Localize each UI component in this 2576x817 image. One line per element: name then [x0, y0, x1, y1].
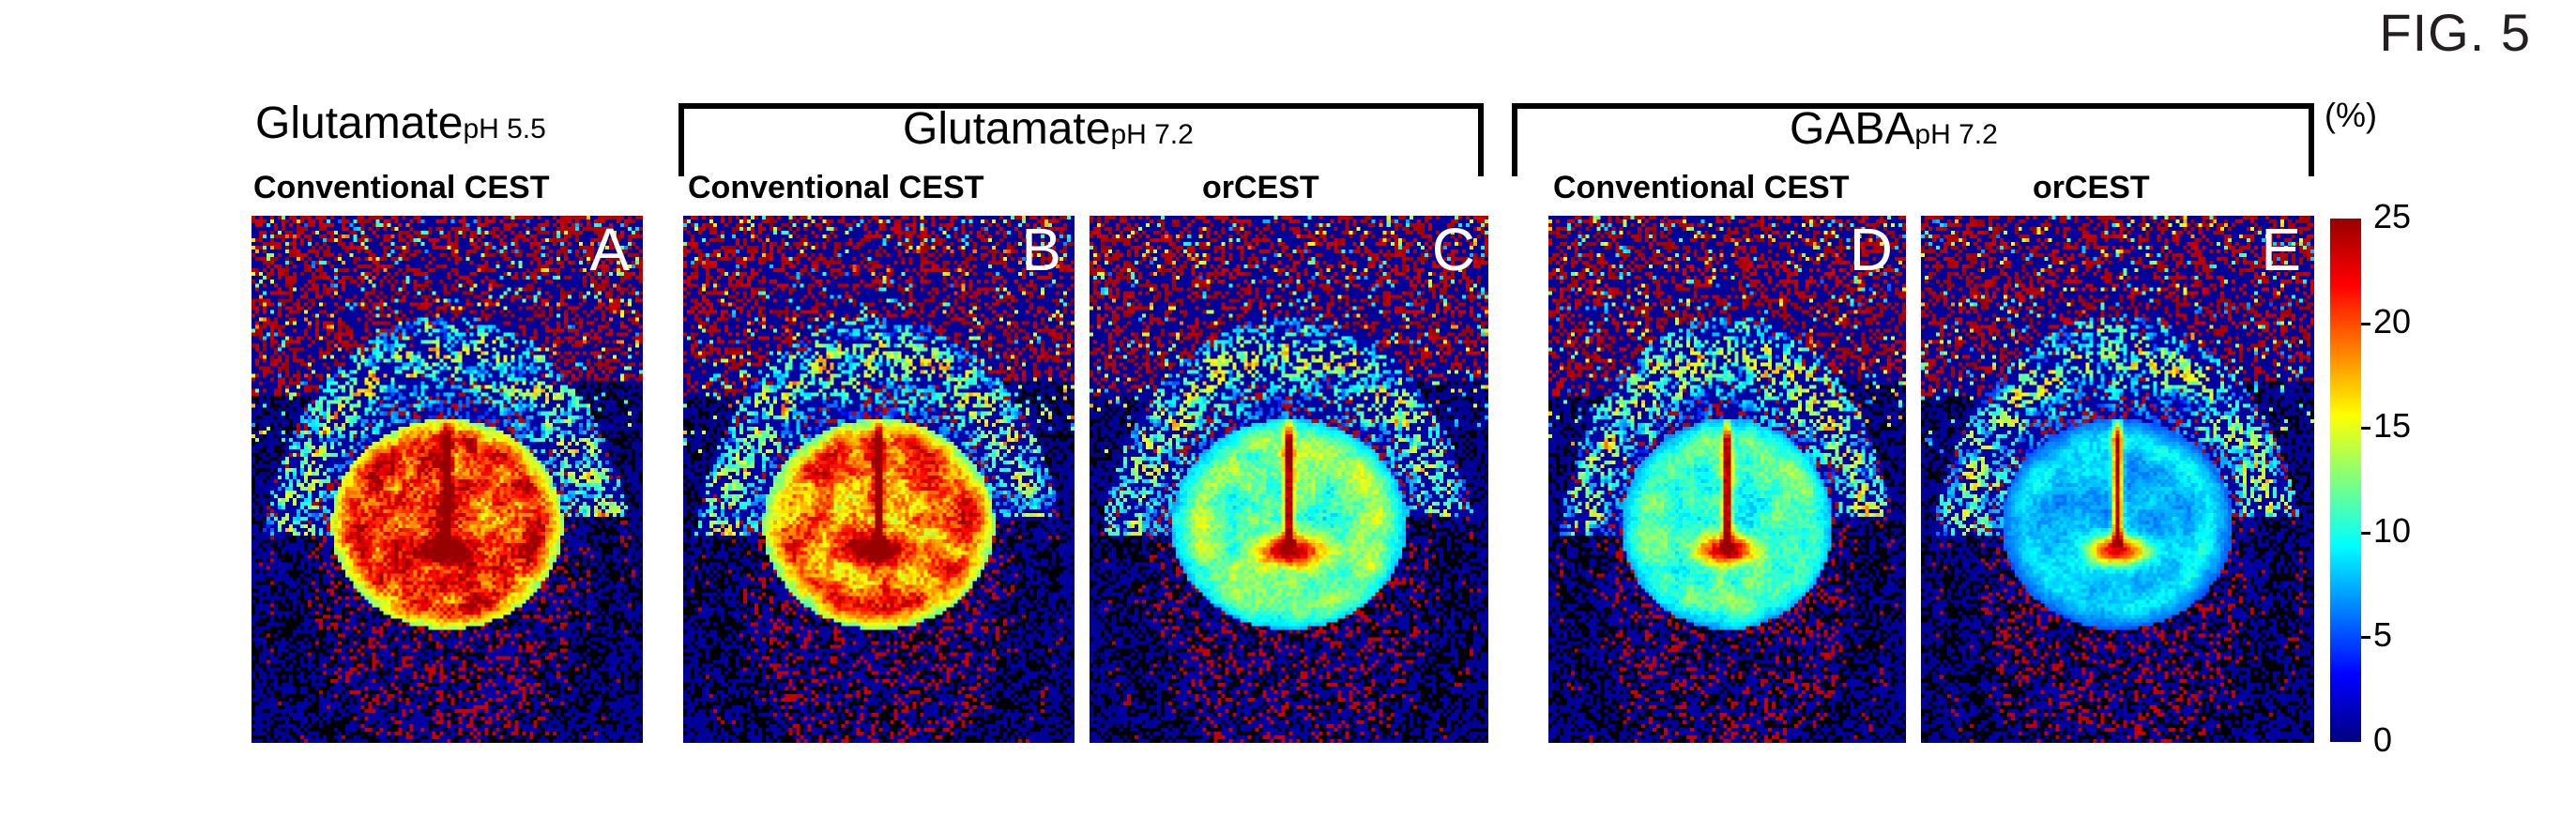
cest-map-panel-b[interactable]: B: [683, 216, 1075, 743]
group-title-glutamate-ph55: GlutamatepH 5.5: [255, 101, 546, 146]
colorbar-tick-label-25: 25: [2373, 200, 2411, 234]
group-title-ph: pH 7.2: [1110, 119, 1193, 150]
panel-subtitle-b: Conventional CEST: [688, 172, 983, 204]
group-title-gaba-ph72: GABApH 7.2: [1790, 107, 1998, 152]
colorbar-tick-label-10: 10: [2373, 514, 2411, 548]
colorbar-gradient: [2330, 219, 2361, 742]
colorbar: [2330, 219, 2361, 742]
group-title-ph: pH 7.2: [1914, 119, 1997, 150]
cest-map-panel-d[interactable]: D: [1548, 216, 1906, 743]
cest-map-panel-e[interactable]: E: [1921, 216, 2314, 743]
colorbar-tick-label-0: 0: [2373, 723, 2392, 757]
group-title-text: Glutamate: [255, 98, 463, 148]
group-title-text: Glutamate: [903, 104, 1110, 154]
colorbar-tick-label-15: 15: [2373, 409, 2411, 443]
colorbar-tick-label-5: 5: [2373, 618, 2392, 652]
group-title-ph: pH 5.5: [463, 113, 545, 144]
panel-subtitle-d: Conventional CEST: [1553, 172, 1849, 204]
colorbar-unit-label: (%): [2324, 98, 2377, 132]
group-title-text: GABA: [1790, 104, 1914, 154]
panel-subtitle-c: orCEST: [1202, 172, 1319, 204]
colorbar-tick-mark: [2361, 427, 2370, 430]
colorbar-tick-mark: [2361, 323, 2370, 325]
cest-map-panel-c[interactable]: C: [1090, 216, 1488, 743]
colorbar-tick-label-20: 20: [2373, 305, 2411, 339]
colorbar-tick-mark: [2361, 532, 2370, 535]
panel-subtitle-a: Conventional CEST: [253, 172, 549, 204]
figure-label: FIG. 5: [2379, 2, 2531, 63]
cest-map-panel-a[interactable]: A: [252, 216, 643, 743]
group-title-glutamate-ph72: GlutamatepH 7.2: [903, 107, 1194, 152]
panel-subtitle-e: orCEST: [2033, 172, 2150, 204]
colorbar-tick-mark: [2361, 636, 2370, 639]
